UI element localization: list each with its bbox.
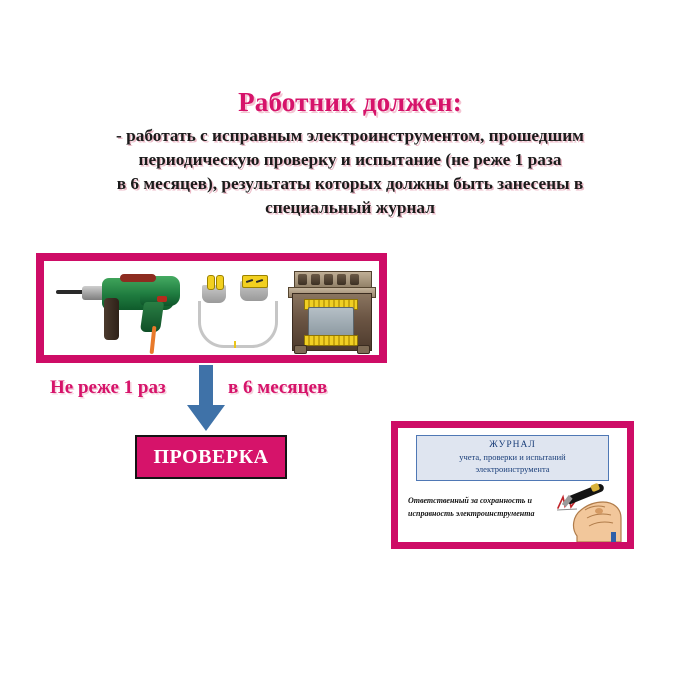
body-line-4: специальный журнал (0, 196, 700, 220)
journal-sign-line-1: Ответственный за сохранность и (408, 494, 558, 507)
journal-title-line3: электроинструмента (421, 463, 604, 475)
plug-pin-left (207, 275, 215, 290)
journal-photo-frame: ЖУРНАЛ учета, проверки и испытаний элект… (391, 421, 634, 549)
transformer-terminal (324, 274, 333, 285)
interval-label-right: в 6 месяцев (228, 377, 327, 399)
transformer-foot (357, 345, 370, 354)
journal-sign-line-2: исправность электроинструмента (408, 507, 558, 520)
transformer-terminal (350, 274, 359, 285)
extension-cord-icon (194, 271, 280, 351)
transformer-terminal (311, 274, 320, 285)
journal-responsible-text: Ответственный за сохранность и исправнос… (408, 494, 558, 520)
transformer-coil-bottom (304, 335, 358, 346)
journal-card: ЖУРНАЛ учета, проверки и испытаний элект… (398, 428, 627, 542)
interval-label-left: Не реже 1 раз (50, 377, 166, 399)
cord-wire (198, 301, 278, 348)
body-text: - работать с исправным электроинструмент… (0, 124, 700, 220)
transformer-icon (286, 267, 376, 353)
tools-photo-inner (44, 261, 379, 355)
heading-block: Работник должен: - работать с исправным … (0, 86, 700, 220)
body-line-1: - работать с исправным электроинструмент… (0, 124, 700, 148)
drill-top-grip (120, 274, 156, 282)
journal-title-line2: учета, проверки и испытаний (421, 451, 604, 463)
hand-with-pen-icon (551, 480, 625, 542)
electric-drill-icon (54, 268, 186, 352)
journal-title-panel: ЖУРНАЛ учета, проверки и испытаний элект… (416, 435, 609, 481)
inspection-result-box: ПРОВЕРКА (135, 435, 287, 479)
down-arrow-icon (184, 365, 228, 433)
body-line-2: периодическую проверку и испытание (не р… (0, 148, 700, 172)
page-title: Работник должен: (0, 86, 700, 118)
cord-tie (234, 341, 236, 348)
inspection-result-label: ПРОВЕРКА (153, 446, 268, 469)
socket-contacts (242, 275, 268, 288)
plug-pin-right (216, 275, 224, 290)
tools-photo-frame (36, 253, 387, 363)
transformer-terminal (298, 274, 307, 285)
body-line-3: в 6 месяцев), результаты которых должны … (0, 172, 700, 196)
transformer-terminal (337, 274, 346, 285)
drill-side-handle (104, 298, 119, 340)
transformer-foot (294, 345, 307, 354)
journal-title-main: ЖУРНАЛ (421, 439, 604, 451)
